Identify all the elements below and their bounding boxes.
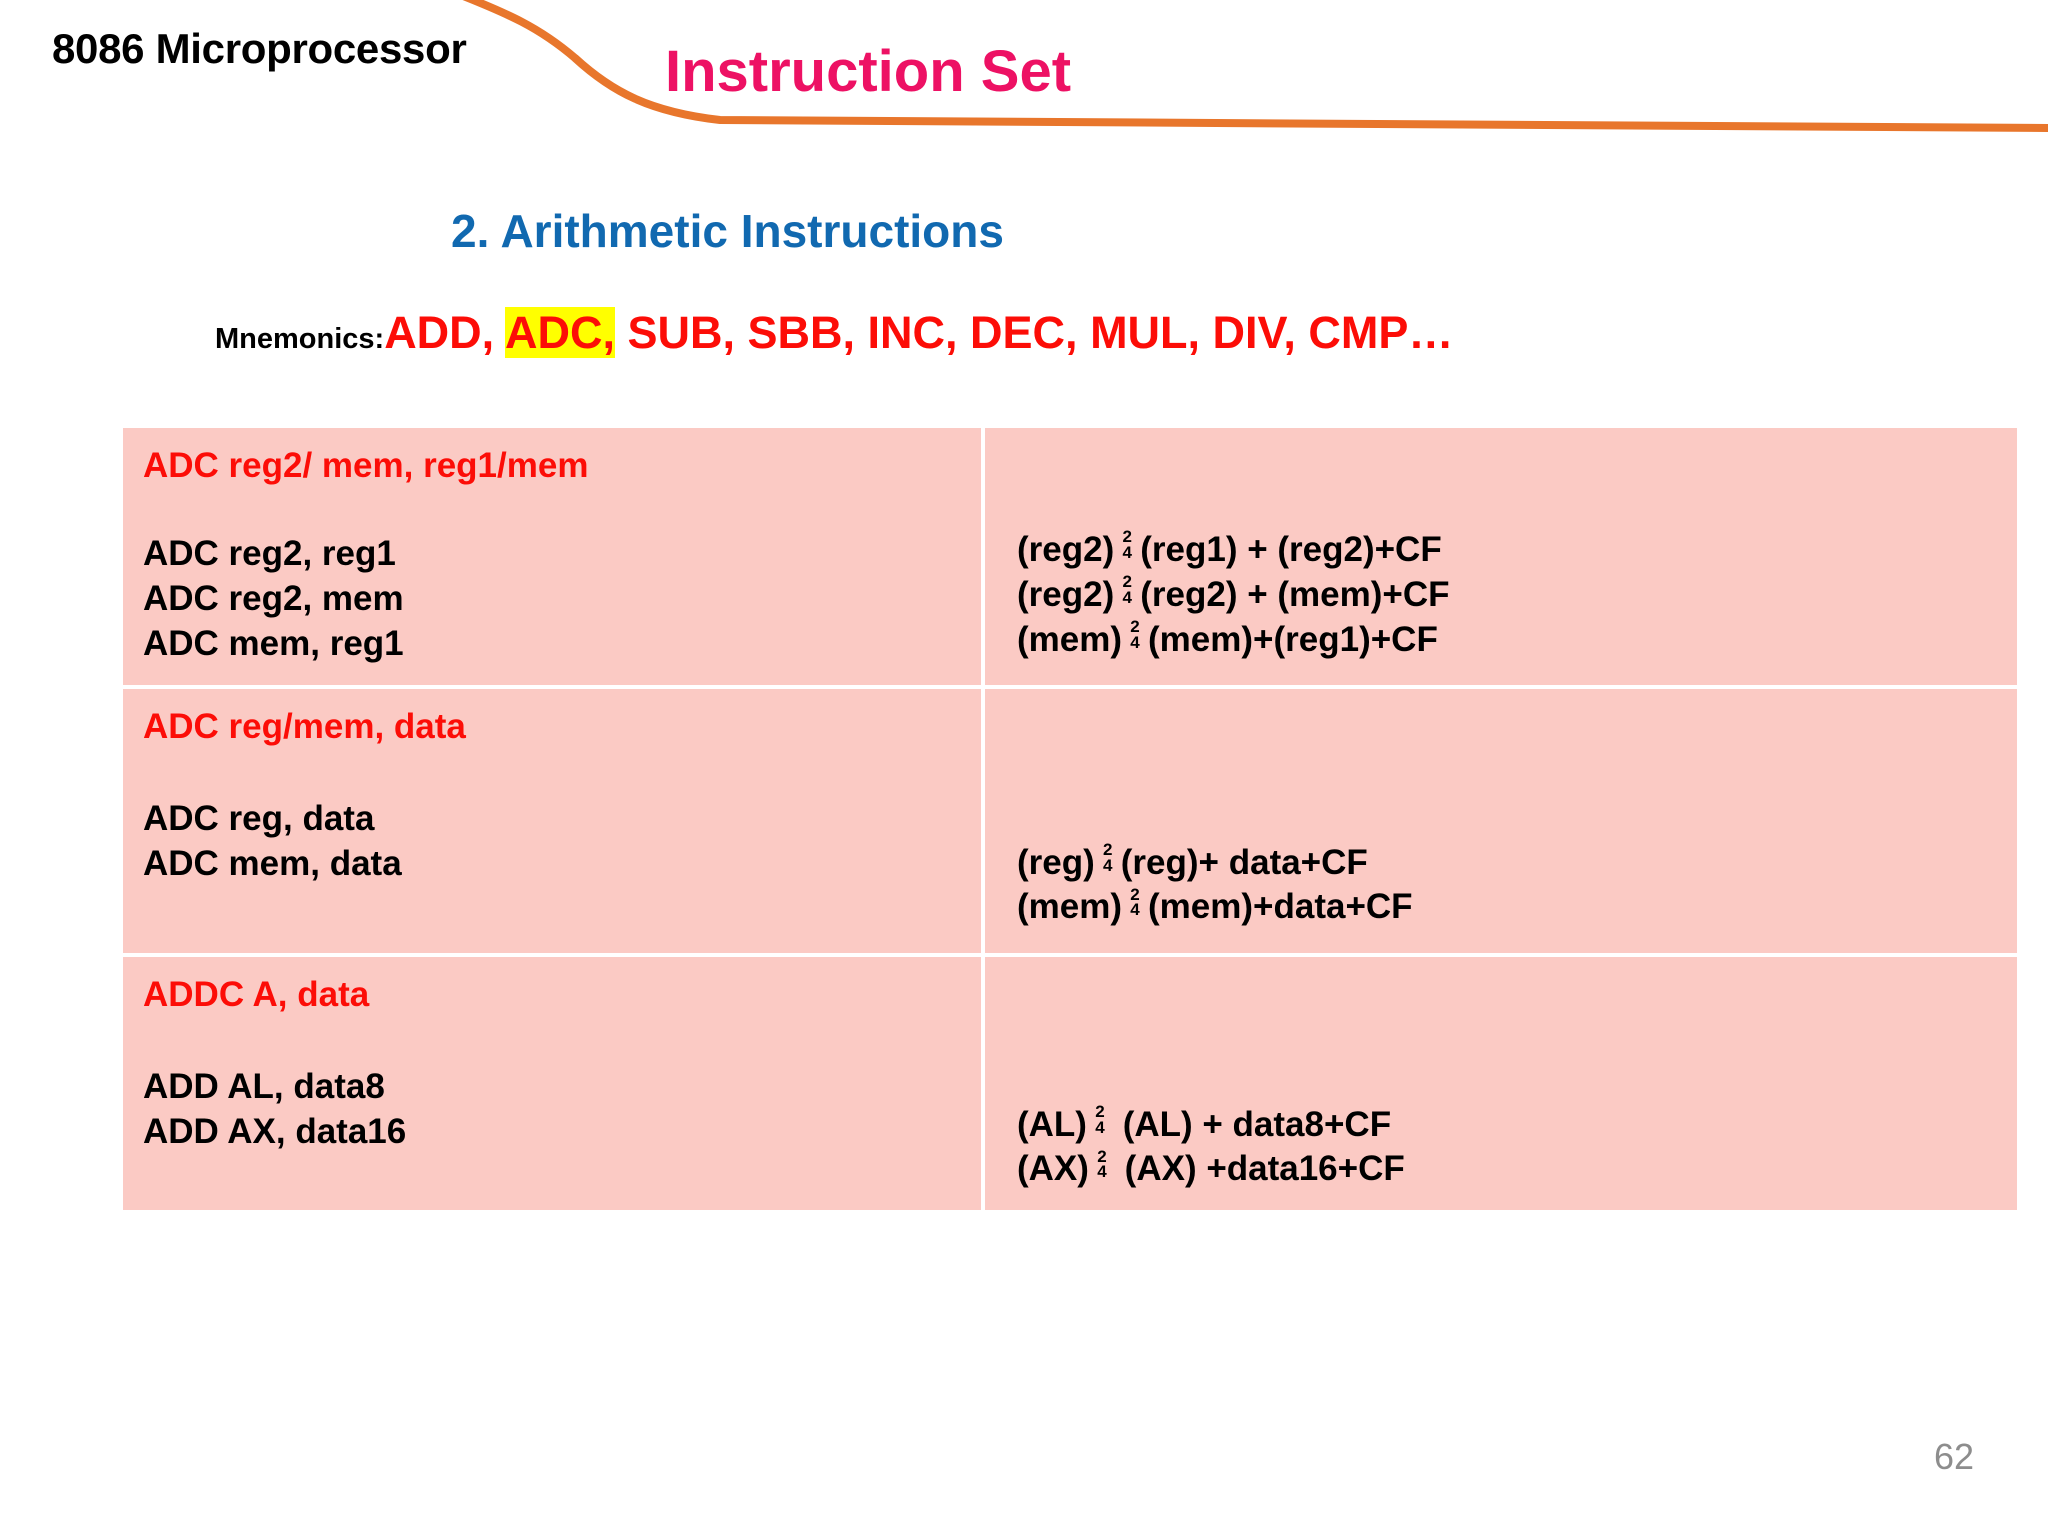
table-row: ADC reg2/ mem, reg1/mem ADC reg2, reg1 A… — [121, 426, 2019, 687]
operation-expression: (mem)+(reg1)+CF — [1148, 620, 1438, 659]
left-arrow-icon: 24 — [1092, 1104, 1108, 1135]
syntax-heading: ADC reg2/ mem, reg1/mem — [143, 446, 981, 486]
left-arrow-icon: 24 — [1094, 1149, 1110, 1180]
operation-line: (reg2)24(reg1) + (reg2)+CF — [1017, 528, 2017, 573]
operation-destination: (AL) — [1017, 1105, 1087, 1144]
operation-line: (mem)24(mem)+(reg1)+CF — [1017, 618, 2017, 663]
page-number: 62 — [1934, 1436, 1974, 1478]
operation-line: (mem)24(mem)+data+CF — [1017, 885, 2017, 930]
instruction-line: ADD AX, data16 — [143, 1110, 981, 1155]
operation-destination: (reg) — [1017, 843, 1095, 882]
table-row: ADC reg/mem, data ADC reg, data ADC mem,… — [121, 687, 2019, 955]
operation-line: (reg)24(reg)+ data+CF — [1017, 841, 2017, 886]
operation-destination: (mem) — [1017, 620, 1122, 659]
operation-destination: (mem) — [1017, 887, 1122, 926]
instruction-line: ADC reg, data — [143, 797, 981, 842]
spacer — [1017, 446, 2017, 528]
mnemonics-after-highlight: SUB, SBB, INC, DEC, MUL, DIV, CMP… — [615, 307, 1453, 358]
table-row: ADDC A, data ADD AL, data8 ADD AX, data1… — [121, 955, 2019, 1213]
operation-expression: (AL) + data8+CF — [1113, 1105, 1391, 1144]
spacer — [143, 747, 981, 797]
instruction-line: ADC reg2, mem — [143, 577, 981, 622]
mnemonics-before-highlight: ADD, — [384, 307, 505, 358]
spacer — [143, 1015, 981, 1065]
left-arrow-icon: 24 — [1100, 842, 1116, 873]
spacer — [1017, 707, 2017, 841]
table-cell-operation: (reg2)24(reg1) + (reg2)+CF (reg2)24(reg2… — [983, 426, 2019, 687]
operation-expression: (mem)+data+CF — [1148, 887, 1413, 926]
operation-expression: (AX) +data16+CF — [1115, 1149, 1405, 1188]
instruction-line: ADC mem, data — [143, 842, 981, 887]
operation-expression: (reg2) + (mem)+CF — [1140, 575, 1449, 614]
operation-destination: (AX) — [1017, 1149, 1089, 1188]
slide-header: 8086 Microprocessor Instruction Set — [0, 0, 2048, 150]
spacer — [1017, 975, 2017, 1103]
operation-line: (AX)24 (AX) +data16+CF — [1017, 1147, 2017, 1192]
operation-destination: (reg2) — [1017, 530, 1114, 569]
mnemonics-line: Mnemonics:ADD, ADC, SUB, SBB, INC, DEC, … — [215, 310, 1453, 355]
left-arrow-icon: 24 — [1127, 619, 1143, 650]
deck-title: 8086 Microprocessor — [52, 25, 467, 73]
syntax-heading: ADDC A, data — [143, 975, 981, 1015]
table-cell-operation: (reg)24(reg)+ data+CF (mem)24(mem)+data+… — [983, 687, 2019, 955]
left-arrow-icon: 24 — [1119, 574, 1135, 605]
slide-title: Instruction Set — [665, 38, 1071, 105]
table-cell-operation: (AL)24 (AL) + data8+CF (AX)24 (AX) +data… — [983, 955, 2019, 1213]
table-cell-syntax: ADC reg/mem, data ADC reg, data ADC mem,… — [121, 687, 983, 955]
operation-expression: (reg1) + (reg2)+CF — [1140, 530, 1441, 569]
left-arrow-icon: 24 — [1127, 887, 1143, 918]
operation-line: (reg2)24(reg2) + (mem)+CF — [1017, 573, 2017, 618]
operation-expression: (reg)+ data+CF — [1121, 843, 1368, 882]
table-cell-syntax: ADDC A, data ADD AL, data8 ADD AX, data1… — [121, 955, 983, 1213]
syntax-heading: ADC reg/mem, data — [143, 707, 981, 747]
instruction-table: ADC reg2/ mem, reg1/mem ADC reg2, reg1 A… — [119, 424, 2021, 1214]
operation-destination: (reg2) — [1017, 575, 1114, 614]
mnemonics-label: Mnemonics: — [215, 323, 384, 355]
spacer — [143, 486, 981, 532]
section-heading: 2. Arithmetic Instructions — [0, 204, 1455, 258]
instruction-line: ADC reg2, reg1 — [143, 532, 981, 577]
mnemonics-highlighted-adc: ADC, — [505, 307, 615, 358]
instruction-line: ADC mem, reg1 — [143, 622, 981, 667]
instruction-line: ADD AL, data8 — [143, 1065, 981, 1110]
operation-line: (AL)24 (AL) + data8+CF — [1017, 1103, 2017, 1148]
table-cell-syntax: ADC reg2/ mem, reg1/mem ADC reg2, reg1 A… — [121, 426, 983, 687]
left-arrow-icon: 24 — [1119, 529, 1135, 560]
